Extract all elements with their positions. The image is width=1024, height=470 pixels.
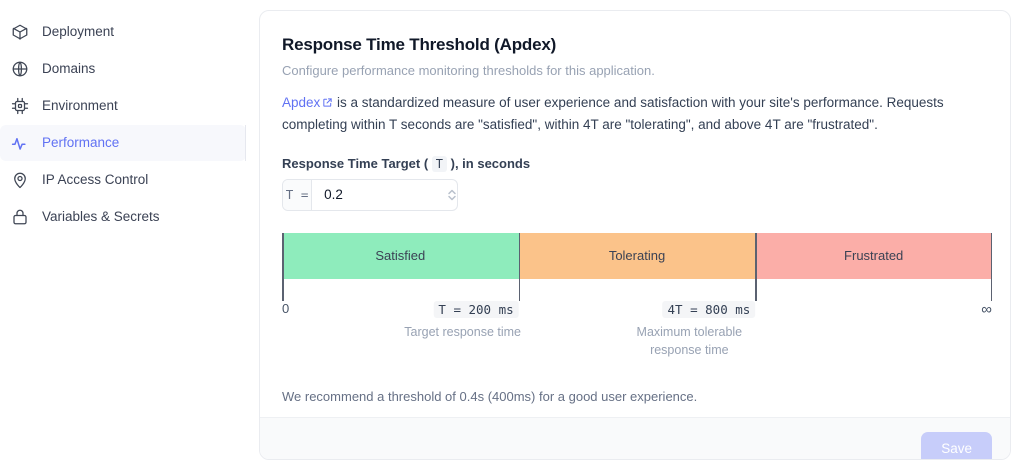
save-button[interactable]: Save: [921, 432, 992, 460]
axis-label-infinity: ∞: [981, 301, 992, 318]
sidebar-item-label: Deployment: [42, 25, 114, 39]
sidebar-item-label: Environment: [42, 99, 118, 113]
main-content: Response Time Threshold (Apdex) Configur…: [246, 0, 1024, 470]
globe-icon: [10, 59, 30, 79]
axis-labels: 0 T = 200 ms 4T = 800 ms ∞: [282, 301, 992, 319]
apdex-description-body: is a standardized measure of user experi…: [282, 95, 944, 132]
segment-satisfied: Satisfied: [282, 233, 519, 279]
sidebar-item-domains[interactable]: Domains: [0, 51, 246, 87]
axis-label-4t: 4T = 800 ms: [663, 301, 756, 318]
target-input-wrap[interactable]: [312, 180, 446, 210]
sidebar: Deployment Domains Environment: [0, 0, 246, 470]
recommendation-text: We recommend a threshold of 0.4s (400ms)…: [282, 389, 988, 404]
apdex-bar: Satisfied Tolerating Frustrated: [282, 233, 992, 279]
page-title: Response Time Threshold (Apdex): [282, 35, 988, 55]
cpu-chip-icon: [10, 96, 30, 116]
axis-tick-4t: [755, 233, 757, 301]
sidebar-item-label: Domains: [42, 62, 95, 76]
sidebar-item-performance[interactable]: Performance: [0, 125, 246, 161]
sidebar-item-environment[interactable]: Environment: [0, 88, 246, 124]
target-field-label: Response Time Target ( T ), in seconds: [282, 156, 988, 171]
caption-max-tolerable-response-time: Maximum tolerable response time: [629, 323, 749, 359]
axis-label-t: T = 200 ms: [433, 301, 518, 318]
sidebar-item-ip-access-control[interactable]: IP Access Control: [0, 162, 246, 198]
segment-frustrated: Frustrated: [755, 233, 992, 279]
segment-tolerating: Tolerating: [519, 233, 756, 279]
target-input-prefix: T =: [283, 180, 312, 210]
apdex-link-label: Apdex: [282, 95, 320, 110]
axis-tick-zero: [282, 233, 284, 301]
card-footer: Save: [260, 417, 1010, 460]
box-icon: [10, 22, 30, 42]
target-field-label-after: ), in seconds: [447, 156, 530, 171]
apdex-settings-card: Response Time Threshold (Apdex) Configur…: [259, 10, 1011, 460]
map-pin-icon: [10, 170, 30, 190]
target-field-label-chip: T: [432, 156, 447, 172]
sidebar-item-label: IP Access Control: [42, 173, 148, 187]
target-field-label-before: Response Time Target (: [282, 156, 432, 171]
apdex-description: Apdex is a standardized measure of user …: [282, 92, 982, 136]
segment-tolerating-label: Tolerating: [609, 248, 665, 263]
sidebar-item-variables-secrets[interactable]: Variables & Secrets: [0, 199, 246, 235]
segment-satisfied-label: Satisfied: [375, 248, 425, 263]
stepper-updown-icon[interactable]: [447, 180, 457, 210]
axis-tick-t: [519, 233, 521, 301]
page-subtitle: Configure performance monitoring thresho…: [282, 63, 988, 78]
sidebar-item-label: Performance: [42, 136, 119, 150]
axis-captions: Target response time Maximum tolerable r…: [282, 323, 992, 363]
axis-ticks: [282, 279, 992, 301]
external-link-icon: [322, 93, 333, 114]
target-input-group[interactable]: T =: [282, 179, 458, 211]
axis-tick-infinity: [991, 233, 993, 301]
apdex-link[interactable]: Apdex: [282, 95, 320, 110]
sidebar-item-label: Variables & Secrets: [42, 210, 160, 224]
axis-label-zero: 0: [282, 301, 289, 316]
settings-page: Deployment Domains Environment: [0, 0, 1024, 470]
caption-target-response-time: Target response time: [403, 323, 523, 341]
segment-frustrated-label: Frustrated: [844, 248, 903, 263]
card-body: Response Time Threshold (Apdex) Configur…: [260, 11, 1010, 417]
response-time-target-input[interactable]: [322, 186, 440, 203]
sidebar-item-deployment[interactable]: Deployment: [0, 14, 246, 50]
apdex-range-chart: Satisfied Tolerating Frustrated: [282, 233, 992, 363]
activity-pulse-icon: [10, 133, 30, 153]
lock-icon: [10, 207, 30, 227]
